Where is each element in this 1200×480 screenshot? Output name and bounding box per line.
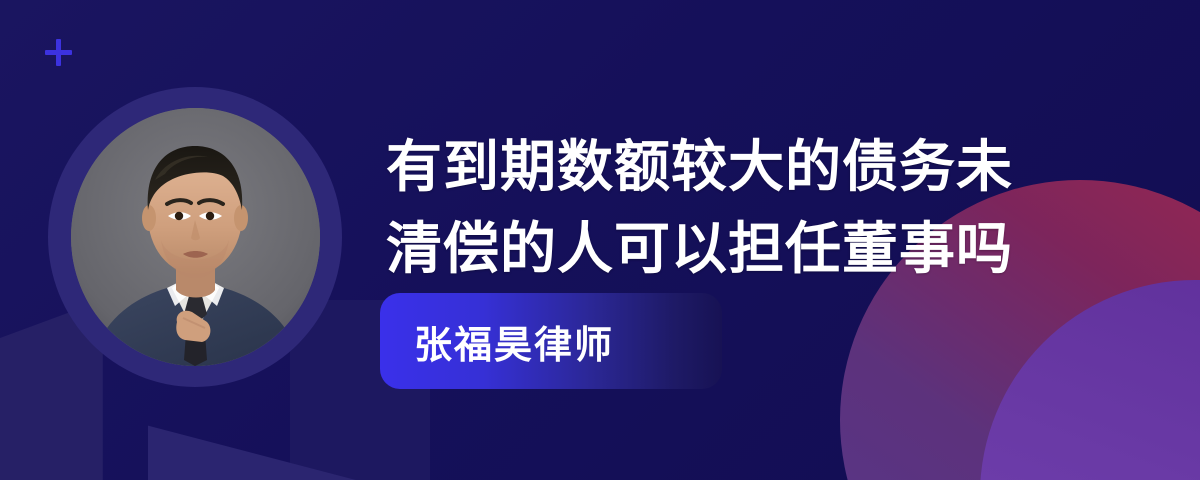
avatar-photo bbox=[71, 108, 320, 366]
page-title: 有到期数额较大的债务未 清偿的人可以担任董事吗 bbox=[386, 126, 1076, 290]
plus-icon bbox=[45, 39, 72, 66]
legal-qa-banner: 有到期数额较大的债务未 清偿的人可以担任董事吗 张福昊律师 bbox=[0, 0, 1200, 480]
author-badge[interactable]: 张福昊律师 bbox=[380, 293, 722, 389]
avatar bbox=[48, 87, 342, 387]
author-name: 张福昊律师 bbox=[380, 314, 614, 369]
